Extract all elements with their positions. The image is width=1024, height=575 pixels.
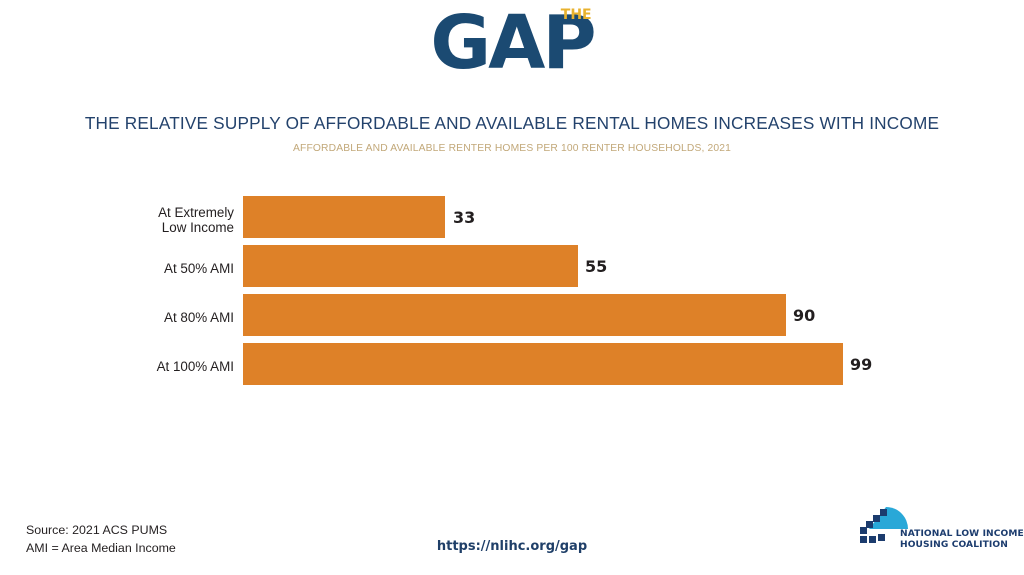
bar-category-label-line: At 80% AMI [100, 310, 234, 325]
chart-subtitle: AFFORDABLE AND AVAILABLE RENTER HOMES PE… [0, 143, 1024, 154]
nlihc-logo: NATIONAL LOW INCOME HOUSING COALITION [856, 503, 1008, 559]
nlihc-logo-text-line: HOUSING COALITION [900, 540, 1024, 551]
bar-row: At 50% AMI 55 [0, 245, 1024, 291]
bar-category-label: At 100% AMI [100, 359, 234, 374]
bar-category-label: At Extremely Low Income [100, 205, 234, 235]
bar-value-100-ami: 99 [850, 355, 872, 374]
source-line: Source: 2021 ACS PUMS [26, 521, 176, 539]
nlihc-logo-text: NATIONAL LOW INCOME HOUSING COALITION [900, 529, 1024, 552]
gap-logo: GAP THE [0, 6, 1024, 88]
bar-category-label-line: At 50% AMI [100, 261, 234, 276]
bar-value-extremely-low-income: 33 [453, 208, 475, 227]
bar-value-80-ami: 90 [793, 306, 815, 325]
bar-80-ami [243, 294, 786, 336]
bar-value-50-ami: 55 [585, 257, 607, 276]
bar-extremely-low-income [243, 196, 445, 238]
bar-category-label-line: At 100% AMI [100, 359, 234, 374]
bar-row: At Extremely Low Income 33 [0, 196, 1024, 242]
bar-category-label: At 50% AMI [100, 261, 234, 276]
bar-chart: At Extremely Low Income 33 At 50% AMI 55… [0, 196, 1024, 401]
gap-logo-the-text: THE [561, 8, 592, 22]
gap-logo-wordmark: GAP THE [430, 6, 593, 80]
chart-title: THE RELATIVE SUPPLY OF AFFORDABLE AND AV… [0, 113, 1024, 134]
bar-category-label-line: Low Income [100, 220, 234, 235]
bar-50-ami [243, 245, 578, 287]
nlihc-logo-text-line: NATIONAL LOW INCOME [900, 529, 1024, 540]
bar-100-ami [243, 343, 843, 385]
bar-category-label: At 80% AMI [100, 310, 234, 325]
bar-category-label-line: At Extremely [100, 205, 234, 220]
bar-row: At 100% AMI 99 [0, 343, 1024, 389]
bar-row: At 80% AMI 90 [0, 294, 1024, 340]
